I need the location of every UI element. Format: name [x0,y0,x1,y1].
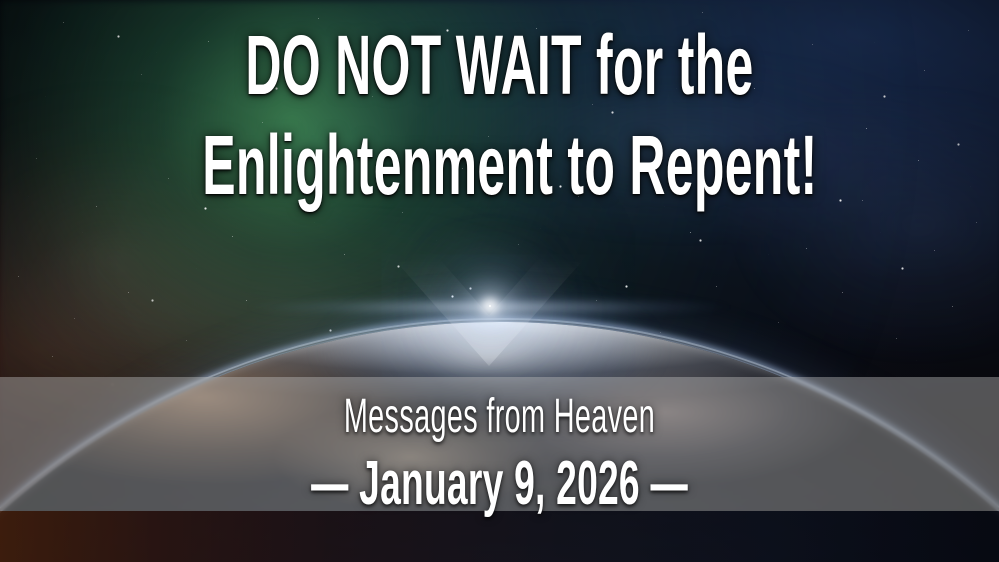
caption-kicker: Messages from Heaven [200,393,799,441]
headline-line-1: DO NOT WAIT for the [202,16,796,116]
sunrise-core [489,305,491,307]
caption-text-group: Messages from Heaven — January 9, 2026 — [0,393,999,515]
headline-line-2: Enlightenment to Repent! [202,116,796,216]
caption-date: — January 9, 2026 — [200,453,799,515]
title-slide: DO NOT WAIT for the Enlightenment to Rep… [0,0,999,562]
sun-lens-flare [189,296,789,318]
headline: DO NOT WAIT for the Enlightenment to Rep… [202,16,796,216]
